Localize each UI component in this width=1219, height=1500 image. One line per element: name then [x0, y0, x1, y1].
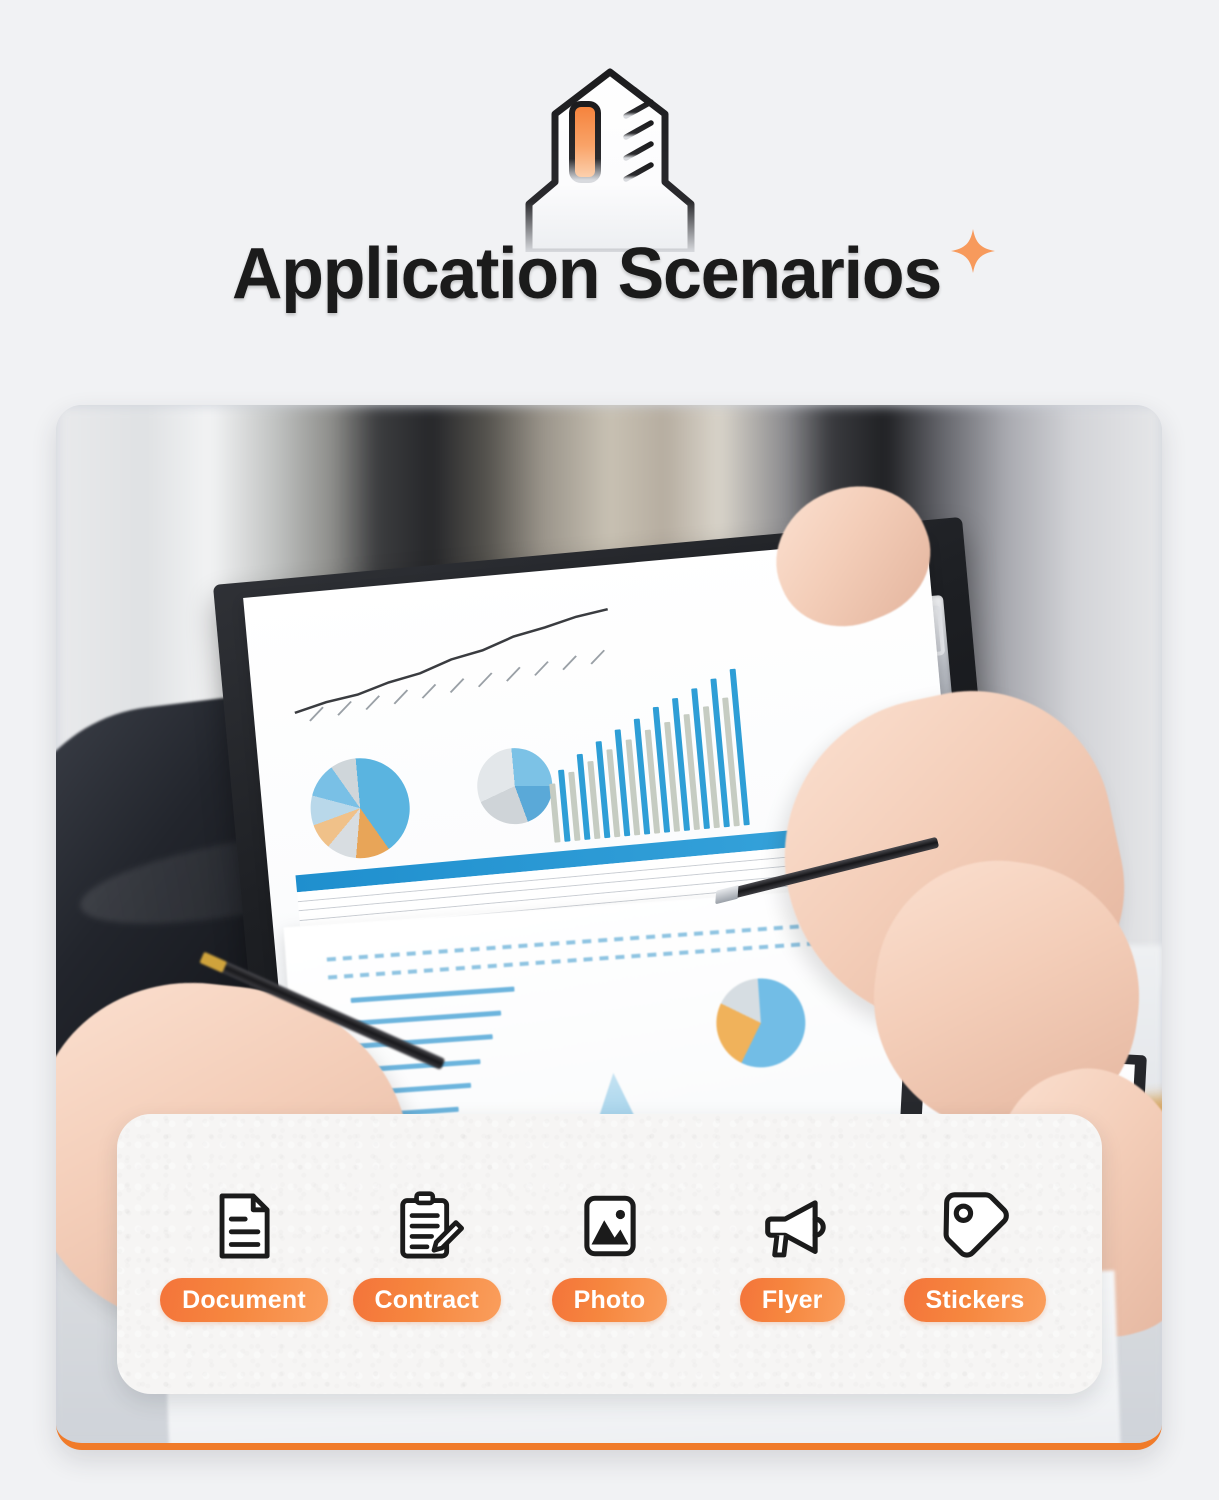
page-title: Application Scenarios [232, 238, 941, 310]
scenario-tag-label: Stickers [904, 1278, 1047, 1322]
scenario-tag-panel: Document Contract [117, 1114, 1102, 1394]
scenario-tag-label: Contract [353, 1278, 501, 1322]
scenario-tag-label: Photo [552, 1278, 668, 1322]
sparkle-icon [948, 226, 998, 276]
application-scenarios-page: Application Scenarios [0, 0, 1219, 1500]
scenario-tag-document[interactable]: Document [153, 1189, 335, 1322]
scenario-tag-label: Flyer [740, 1278, 845, 1322]
document-icon [207, 1189, 281, 1263]
scenario-tag-contract[interactable]: Contract [336, 1189, 518, 1322]
scenario-tag-list: Document Contract [117, 1114, 1102, 1394]
clipboard-pen-icon [390, 1189, 464, 1263]
scenario-tag-stickers[interactable]: Stickers [884, 1189, 1066, 1322]
building-icon [495, 62, 725, 252]
page-header: Application Scenarios [0, 0, 1219, 400]
scenario-tag-flyer[interactable]: Flyer [701, 1189, 883, 1322]
scenario-tag-photo[interactable]: Photo [519, 1189, 701, 1322]
image-icon [573, 1189, 647, 1263]
price-tag-icon [938, 1189, 1012, 1263]
title-row: Application Scenarios [0, 238, 1219, 310]
scenario-tag-label: Document [160, 1278, 328, 1322]
megaphone-icon [755, 1189, 829, 1263]
